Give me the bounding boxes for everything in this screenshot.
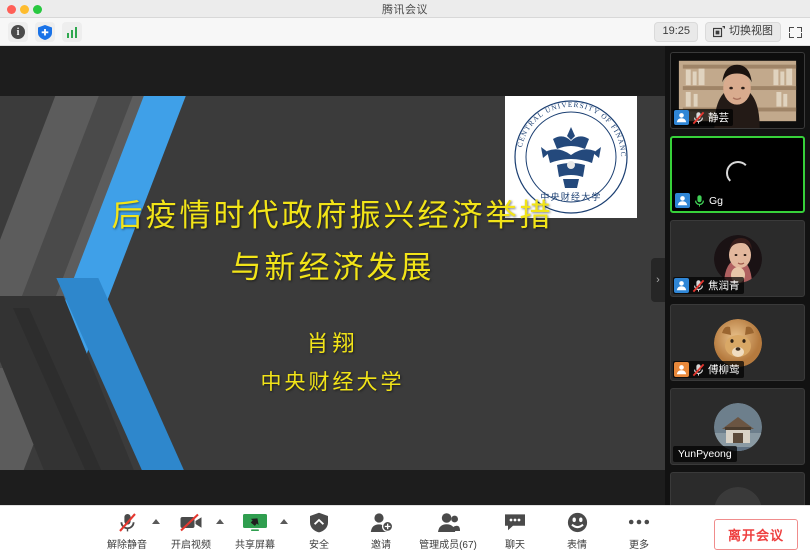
participant-tile[interactable]: 静芸 (670, 52, 805, 129)
chat-label: 聊天 (505, 536, 525, 551)
share-options-caret[interactable] (280, 519, 288, 524)
participant-nameplate: 傅柳莺 (673, 361, 744, 378)
share-screen-label: 共享屏幕 (235, 536, 275, 551)
ellipsis-icon (628, 511, 650, 533)
signal-bars-icon[interactable] (62, 22, 82, 42)
fullscreen-icon[interactable] (788, 25, 803, 40)
participant-name: 静芸 (708, 110, 729, 125)
security-button[interactable]: 安全 (288, 511, 350, 551)
participant-tile-active[interactable]: Gg (670, 136, 805, 213)
slide-title: 后疫情时代政府振兴经济举措 与新经济发展 (0, 190, 665, 294)
security-label: 安全 (309, 536, 329, 551)
participant-nameplate: 焦润青 (673, 277, 744, 294)
participant-tile[interactable] (670, 472, 805, 505)
chat-button[interactable]: 聊天 (484, 511, 546, 551)
control-buttons: 解除静音 开启视频 (96, 511, 670, 551)
video-options-caret[interactable] (216, 519, 224, 524)
participants-rail[interactable]: 静芸 Gg (665, 46, 810, 505)
more-button[interactable]: 更多 (608, 511, 670, 551)
unmute-label: 解除静音 (107, 536, 147, 551)
unmute-button[interactable]: 解除静音 (96, 511, 158, 551)
window-title: 腾讯会议 (0, 1, 810, 17)
toolbar-right-group: 19:25 切换视图 (654, 22, 803, 42)
manage-members-button[interactable]: 管理成员(67) (412, 511, 484, 551)
window-titlebar: 腾讯会议 (0, 0, 810, 18)
emoji-label: 表情 (567, 536, 587, 551)
meeting-control-bar: 解除静音 开启视频 (0, 505, 810, 554)
shield-icon (309, 511, 329, 533)
participant-name: Gg (709, 195, 723, 207)
mic-unmuted-icon (693, 194, 706, 208)
people-icon (437, 511, 460, 533)
participant-tile[interactable]: 傅柳莺 (670, 304, 805, 381)
participant-name: YunPyeong (678, 448, 732, 460)
participant-tile[interactable]: YunPyeong (670, 388, 805, 465)
participant-nameplate: YunPyeong (673, 446, 737, 462)
app-toolbar: i 19:25 (0, 18, 810, 46)
svg-text:CENTRAL UNIVERSITY OF FINANCE: CENTRAL UNIVERSITY OF FINANCE AND ECONOM… (513, 99, 627, 158)
participant-name: 傅柳莺 (708, 362, 740, 377)
invite-button[interactable]: 邀请 (350, 511, 412, 551)
participant-avatar (714, 235, 762, 283)
slide-organization: 中央财经大学 (0, 366, 665, 396)
participant-nameplate: Gg (674, 192, 727, 209)
participant-avatar-badge (675, 193, 690, 208)
emoji-button[interactable]: 表情 (546, 511, 608, 551)
info-icon[interactable]: i (8, 22, 28, 42)
mic-muted-icon (692, 279, 705, 293)
slide-title-line1: 后疫情时代政府振兴经济举措 (112, 198, 554, 234)
manage-members-label: 管理成员(67) (419, 536, 477, 551)
mic-muted-icon (692, 111, 705, 125)
slide-author: 肖翔 (0, 326, 665, 358)
participant-avatar (714, 403, 762, 451)
meeting-time: 19:25 (654, 22, 698, 42)
participant-nameplate: 静芸 (673, 109, 733, 126)
chat-bubble-icon (504, 511, 526, 533)
presentation-slide: CENTRAL UNIVERSITY OF FINANCE AND ECONOM… (0, 96, 665, 470)
collapse-panel-arrow[interactable]: › (651, 258, 665, 302)
microphone-muted-icon (117, 511, 138, 533)
switch-view-icon (713, 26, 725, 38)
toolbar-left-icons: i (8, 22, 82, 42)
participant-avatar-badge (674, 110, 689, 125)
invite-label: 邀请 (371, 536, 391, 551)
start-video-button[interactable]: 开启视频 (160, 511, 222, 551)
switch-view-button[interactable]: 切换视图 (705, 22, 781, 42)
participant-avatar-badge (674, 278, 689, 293)
switch-view-label: 切换视图 (729, 25, 773, 38)
person-add-icon (370, 511, 393, 533)
loading-spinner-icon (726, 161, 750, 185)
shield-plus-icon[interactable] (35, 22, 55, 42)
participant-avatar (714, 319, 762, 367)
leave-meeting-button[interactable]: 离开会议 (714, 519, 798, 550)
participant-avatar-badge (674, 362, 689, 377)
more-label: 更多 (629, 536, 649, 551)
share-screen-icon (242, 511, 268, 533)
participant-tile[interactable]: 焦润青 (670, 220, 805, 297)
audio-options-caret[interactable] (152, 519, 160, 524)
start-video-label: 开启视频 (171, 536, 211, 551)
share-screen-button[interactable]: 共享屏幕 (224, 511, 286, 551)
camera-muted-icon (179, 511, 203, 533)
participant-name: 焦润青 (708, 278, 740, 293)
smiley-icon (567, 511, 588, 533)
slide-title-line2: 与新经济发展 (0, 242, 665, 294)
participant-avatar (714, 487, 762, 506)
mic-muted-icon (692, 363, 705, 377)
tencent-meeting-window: 腾讯会议 i 19:25 (0, 0, 810, 554)
shared-screen-stage: CENTRAL UNIVERSITY OF FINANCE AND ECONOM… (0, 46, 665, 505)
